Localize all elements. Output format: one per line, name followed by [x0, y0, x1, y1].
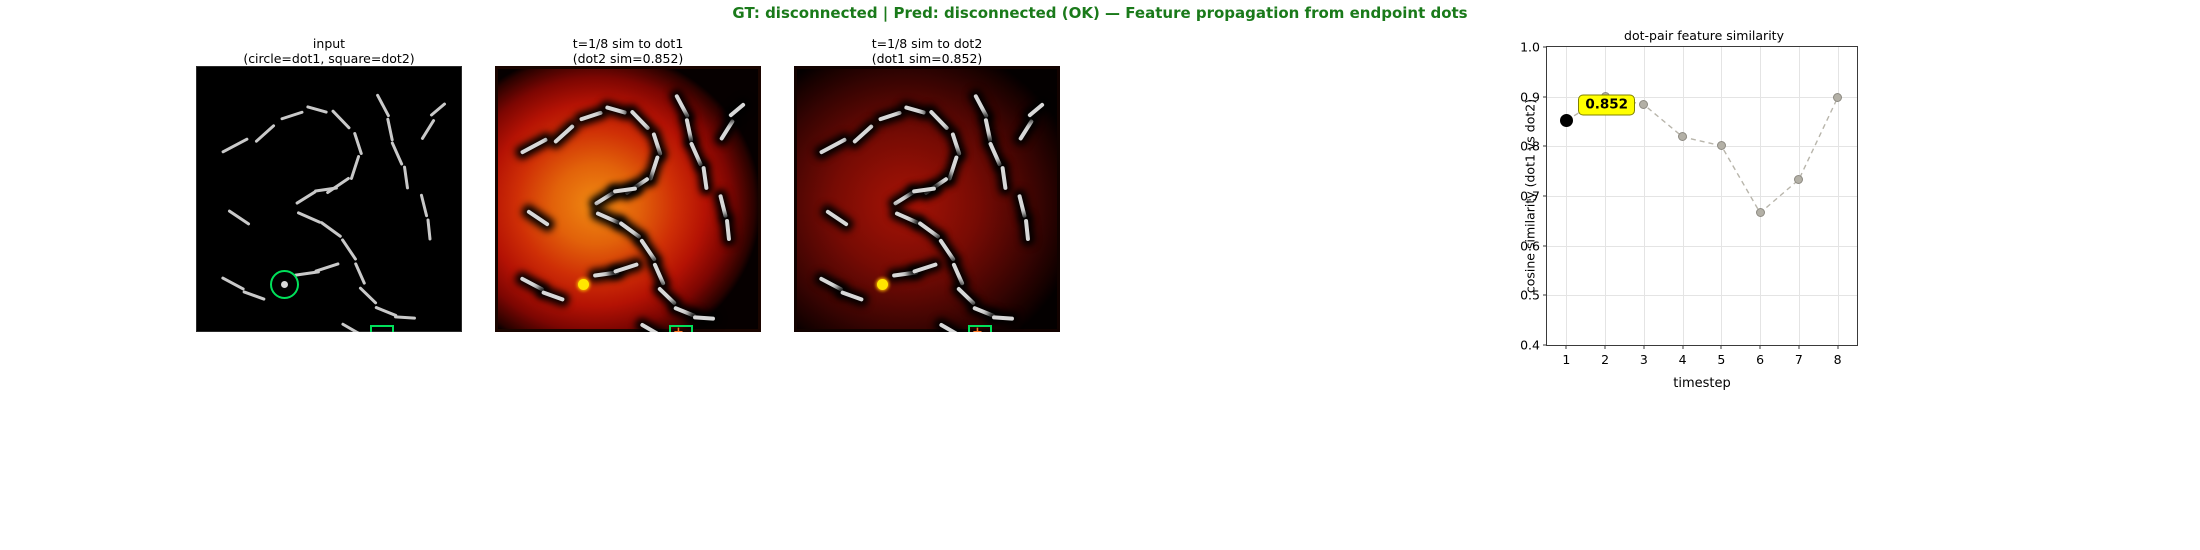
chart-xtick-mark [1566, 345, 1567, 349]
dot1-circle-marker [270, 270, 299, 299]
panel-sim-to-dot1-title-line1: t=1/8 sim to dot1 [573, 36, 684, 51]
chart-xtick-mark [1643, 345, 1644, 349]
sim-to-dot2-heatmap: + [794, 66, 1060, 332]
panel-input-title: input (circle=dot1, square=dot2) [196, 37, 462, 66]
panel-input-title-line1: input [313, 36, 345, 51]
panel-sim-to-dot2-title-line1: t=1/8 sim to dot2 [872, 36, 983, 51]
figure-canvas: GT: disconnected | Pred: disconnected (O… [0, 0, 2200, 550]
chart-xlabel: timestep [1546, 376, 1858, 391]
sim-to-dot1-heatmap: + [495, 66, 761, 332]
similarity-chart: dot-pair feature similarity cosine simil… [1498, 46, 1910, 498]
panel-sim-to-dot2-title: t=1/8 sim to dot2 (dot1 sim=0.852) [794, 37, 1060, 66]
dot2-square-marker [370, 325, 394, 332]
panel-sim-to-dot1-title-line2: (dot2 sim=0.852) [495, 52, 761, 67]
dot1-core [877, 279, 888, 290]
chart-point[interactable] [1756, 208, 1765, 217]
chart-value-callout: 0.852 [1578, 94, 1635, 115]
panel-sim-to-dot2-title-line2: (dot1 sim=0.852) [794, 52, 1060, 67]
panel-input-title-line2: (circle=dot1, square=dot2) [196, 52, 462, 67]
chart-title: dot-pair feature similarity [1498, 28, 1910, 43]
chart-point-current[interactable] [1560, 114, 1573, 127]
dot2-square-marker [669, 325, 693, 332]
chart-plot-area[interactable]: 0.40.50.60.70.80.91.0123456780.852 [1546, 46, 1858, 346]
panel-sim-to-dot1: t=1/8 sim to dot1 (dot2 sim=0.852) [495, 66, 761, 332]
figure-suptitle: GT: disconnected | Pred: disconnected (O… [0, 4, 2200, 22]
chart-xtick-mark [1798, 345, 1799, 349]
dot1-core [578, 279, 589, 290]
chart-xtick-mark [1837, 345, 1838, 349]
chart-xtick-mark [1760, 345, 1761, 349]
panel-input: input (circle=dot1, square=dot2) [196, 66, 462, 332]
panel-sim-to-dot2: t=1/8 sim to dot2 (dot1 sim=0.852) [794, 66, 1060, 332]
dot2-square-marker [968, 325, 992, 332]
input-image [196, 66, 462, 332]
chart-xtick-mark [1721, 345, 1722, 349]
chart-xtick-mark [1605, 345, 1606, 349]
chart-xtick-mark [1682, 345, 1683, 349]
panel-sim-to-dot1-title: t=1/8 sim to dot1 (dot2 sim=0.852) [495, 37, 761, 66]
chart-series-line [1547, 47, 1857, 345]
